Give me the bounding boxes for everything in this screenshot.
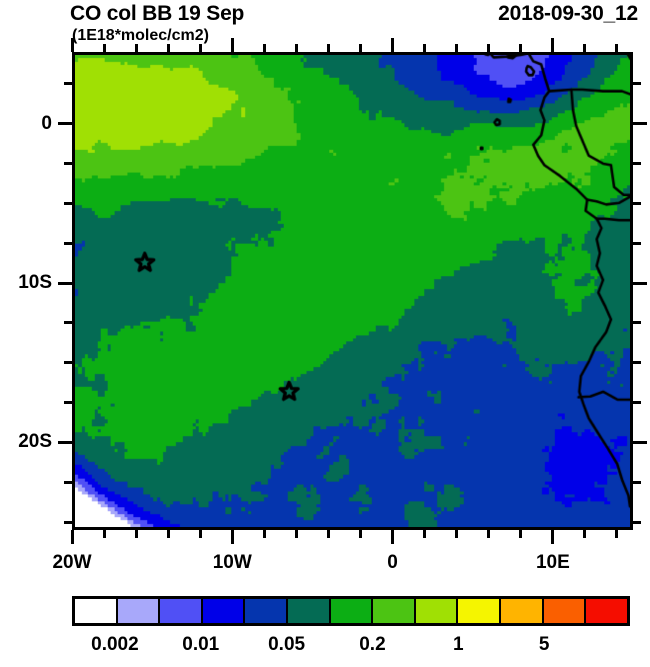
x-minor-tick-8 xyxy=(519,530,522,538)
valid-time-label: 2018-09-30_12 xyxy=(498,2,638,26)
x-axis-label-10E: 10E xyxy=(536,552,570,574)
colorbar-cell-12[interactable] xyxy=(586,599,627,623)
y-minor-tick--25 xyxy=(64,521,72,524)
colorbar-cell-10[interactable] xyxy=(501,599,544,623)
x-top-tick-6 xyxy=(487,44,490,52)
x-minor-tick-2 xyxy=(423,530,426,538)
colorbar[interactable] xyxy=(72,596,630,626)
y-minor-tick--2.5 xyxy=(64,162,72,165)
colorbar-cell-6[interactable] xyxy=(331,599,374,623)
colorbar-tick-label-3: 0.2 xyxy=(359,634,385,656)
x-top-tick--10 xyxy=(231,38,234,52)
y-minor-tick--22.5 xyxy=(64,481,72,484)
x-minor-tick-6 xyxy=(487,530,490,538)
y-axis-label-10S: 10S xyxy=(0,272,52,294)
y-axis-label-20S: 20S xyxy=(0,431,52,453)
y-major-tick-0 xyxy=(58,122,72,125)
y-right-tick--17.5 xyxy=(633,401,641,404)
y-minor-tick-2.5 xyxy=(64,82,72,85)
x-top-tick--12 xyxy=(199,44,202,52)
y-right-tick--2.5 xyxy=(633,162,641,165)
contour-field-canvas xyxy=(75,55,630,527)
y-minor-tick--5 xyxy=(64,202,72,205)
x-top-tick--4 xyxy=(327,44,330,52)
page-title: CO col BB 19 Sep xyxy=(70,2,244,26)
x-top-tick-8 xyxy=(519,44,522,52)
colorbar-tick-label-2: 0.05 xyxy=(268,634,305,656)
colorbar-cell-3[interactable] xyxy=(203,599,246,623)
colorbar-cell-2[interactable] xyxy=(160,599,203,623)
colorbar-cell-8[interactable] xyxy=(416,599,459,623)
x-top-tick--20 xyxy=(71,38,74,52)
x-top-tick-2 xyxy=(423,44,426,52)
y-right-tick--12.5 xyxy=(633,321,641,324)
colorbar-cell-9[interactable] xyxy=(458,599,501,623)
x-minor-tick--12 xyxy=(199,530,202,538)
x-top-tick--16 xyxy=(135,44,138,52)
figure-root: CO col BB 19 Sep 2018-09-30_12 (1E18*mol… xyxy=(0,0,650,667)
x-top-tick--6 xyxy=(295,44,298,52)
x-minor-tick--16 xyxy=(135,530,138,538)
x-top-tick-10 xyxy=(551,38,554,52)
x-top-tick--2 xyxy=(359,44,362,52)
x-top-tick--18 xyxy=(103,44,106,52)
x-minor-tick--6 xyxy=(295,530,298,538)
x-major-tick-10 xyxy=(551,530,554,544)
x-top-tick-14 xyxy=(615,44,618,52)
colorbar-tick-label-1: 0.01 xyxy=(182,634,219,656)
y-minor-tick--12.5 xyxy=(64,321,72,324)
x-minor-tick-4 xyxy=(455,530,458,538)
colorbar-tick-label-5: 5 xyxy=(539,634,550,656)
x-minor-tick--2 xyxy=(359,530,362,538)
x-major-tick--20 xyxy=(71,530,74,544)
x-top-tick-4 xyxy=(455,44,458,52)
x-minor-tick--4 xyxy=(327,530,330,538)
y-major-tick--20 xyxy=(58,441,72,444)
x-minor-tick-12 xyxy=(583,530,586,538)
x-top-tick--14 xyxy=(167,44,170,52)
y-minor-tick--17.5 xyxy=(64,401,72,404)
colorbar-tick-label-0: 0.002 xyxy=(91,634,139,656)
colorbar-cell-1[interactable] xyxy=(118,599,161,623)
x-major-tick--10 xyxy=(231,530,234,544)
x-major-tick-0 xyxy=(391,530,394,544)
x-axis-label-10W: 10W xyxy=(213,552,252,574)
colorbar-tick-label-4: 1 xyxy=(453,634,464,656)
x-minor-tick--14 xyxy=(167,530,170,538)
map-plot-area[interactable] xyxy=(72,52,633,530)
y-right-tick-0 xyxy=(633,122,647,125)
x-top-tick-0 xyxy=(391,38,394,52)
y-minor-tick--15 xyxy=(64,361,72,364)
y-right-tick--22.5 xyxy=(633,481,641,484)
y-major-tick--10 xyxy=(58,282,72,285)
y-right-tick--5 xyxy=(633,202,641,205)
y-right-tick-2.5 xyxy=(633,82,641,85)
x-top-tick-12 xyxy=(583,44,586,52)
x-axis-label-0: 0 xyxy=(387,552,398,574)
units-label: (1E18*molec/cm2) xyxy=(72,27,209,45)
colorbar-cell-11[interactable] xyxy=(544,599,587,623)
y-right-tick--25 xyxy=(633,521,641,524)
y-right-tick--15 xyxy=(633,361,641,364)
colorbar-cell-7[interactable] xyxy=(373,599,416,623)
colorbar-cell-4[interactable] xyxy=(245,599,288,623)
colorbar-cell-0[interactable] xyxy=(75,599,118,623)
x-minor-tick--8 xyxy=(263,530,266,538)
x-minor-tick-14 xyxy=(615,530,618,538)
x-axis-label-20W: 20W xyxy=(52,552,91,574)
y-right-tick--10 xyxy=(633,282,647,285)
colorbar-cell-5[interactable] xyxy=(288,599,331,623)
y-right-tick--20 xyxy=(633,441,647,444)
y-axis-label-0: 0 xyxy=(0,113,52,135)
x-top-tick--8 xyxy=(263,44,266,52)
y-minor-tick--7.5 xyxy=(64,242,72,245)
y-right-tick--7.5 xyxy=(633,242,641,245)
x-minor-tick--18 xyxy=(103,530,106,538)
